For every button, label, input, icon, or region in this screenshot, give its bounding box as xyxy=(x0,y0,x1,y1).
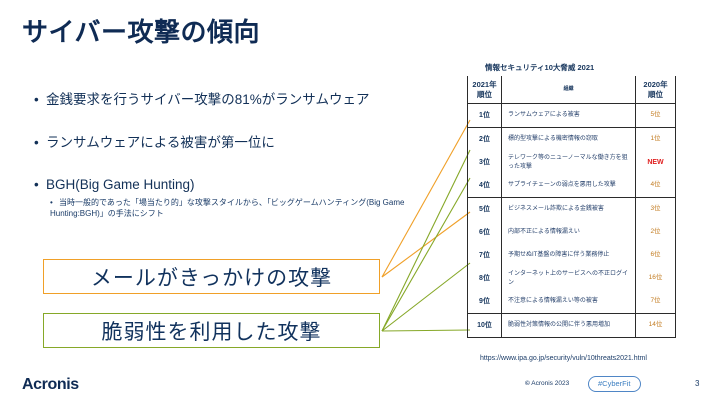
cell-rank-previous: 2位 xyxy=(636,221,676,244)
table-row: 5位ビジネスメール詐欺による金銭被害3位 xyxy=(468,198,676,222)
slide-canvas: サイバー攻撃の傾向 •金銭要求を行うサイバー攻撃の81%がランサムウェア •ラン… xyxy=(0,0,720,405)
bullet-marker: • xyxy=(34,177,46,193)
threat-table-body: 1位ランサムウェアによる被害5位2位標的型攻撃による機密情報の窃取1位3位テレワ… xyxy=(468,104,676,338)
callout-mail-label: メールがきっかけの攻撃 xyxy=(91,262,332,292)
table-row: 10位脆弱性対策情報の公開に伴う悪用増加14位 xyxy=(468,314,676,338)
header-rank-previous-year: 2020年 xyxy=(636,80,675,89)
cell-rank-previous: 1位 xyxy=(636,128,676,152)
cell-rank-current: 7位 xyxy=(468,244,502,267)
bullet-item-1: •金銭要求を行うサイバー攻撃の81%がランサムウェア xyxy=(34,92,369,108)
header-category: 組織 xyxy=(502,76,636,104)
cell-threat-name: インターネット上のサービスへの不正ログイン xyxy=(502,267,636,290)
table-row: 6位内部不正による情報漏えい2位 xyxy=(468,221,676,244)
cell-threat-name: 内部不正による情報漏えい xyxy=(502,221,636,244)
header-rank-previous-label: 順位 xyxy=(636,90,675,99)
table-row: 1位ランサムウェアによる被害5位 xyxy=(468,104,676,128)
cell-rank-previous: 7位 xyxy=(636,290,676,314)
cell-rank-current: 8位 xyxy=(468,267,502,290)
bullet-marker: • xyxy=(34,135,46,151)
bullet-text: 金銭要求を行うサイバー攻撃の81%がランサムウェア xyxy=(46,92,369,107)
cell-threat-name: 標的型攻撃による機密情報の窃取 xyxy=(502,128,636,152)
table-row: 9位不注意による情報漏えい等の被害7位 xyxy=(468,290,676,314)
cell-rank-previous: 5位 xyxy=(636,104,676,128)
table-row: 8位インターネット上のサービスへの不正ログイン16位 xyxy=(468,267,676,290)
cell-rank-previous: 14位 xyxy=(636,314,676,338)
cell-rank-current: 5位 xyxy=(468,198,502,222)
bullet-item-3: •BGH(Big Game Hunting) xyxy=(34,177,195,193)
table-row: 4位サプライチェーンの弱点を悪用した攻撃4位 xyxy=(468,174,676,198)
copyright-text: © Acronis 2023 xyxy=(525,380,569,387)
table-row: 2位標的型攻撃による機密情報の窃取1位 xyxy=(468,128,676,152)
cell-rank-previous-new-badge: NEW xyxy=(636,151,676,174)
cell-rank-current: 6位 xyxy=(468,221,502,244)
cell-rank-current: 1位 xyxy=(468,104,502,128)
bullet-marker: • xyxy=(34,92,46,108)
cell-threat-name: 予期せぬIT基盤の障害に伴う業務停止 xyxy=(502,244,636,267)
page-number: 3 xyxy=(695,379,699,388)
cell-rank-current: 3位 xyxy=(468,151,502,174)
threat-table: 2021年 順位 組織 2020年 順位 1位ランサムウェアによる被害5位2位標… xyxy=(467,76,676,338)
copyright-label: Acronis 2023 xyxy=(531,380,569,387)
slide-footer: Acronis © Acronis 2023 #CyberFit 3 xyxy=(0,371,720,405)
table-header-row: 2021年 順位 組織 2020年 順位 xyxy=(468,76,676,104)
threat-table-container: 情報セキュリティ10大脅威 2021 2021年 順位 組織 2020年 順位 xyxy=(467,62,675,338)
header-rank-current-year: 2021年 xyxy=(468,80,501,89)
cell-threat-name: テレワーク等のニューノーマルな働き方を狙った攻撃 xyxy=(502,151,636,174)
table-row: 7位予期せぬIT基盤の障害に伴う業務停止6位 xyxy=(468,244,676,267)
bullet-text: ランサムウェアによる被害が第一位に xyxy=(46,135,275,150)
header-rank-current: 2021年 順位 xyxy=(468,76,502,104)
cell-threat-name: ビジネスメール詐欺による金銭被害 xyxy=(502,198,636,222)
cell-threat-name: サプライチェーンの弱点を悪用した攻撃 xyxy=(502,174,636,198)
header-rank-current-label: 順位 xyxy=(468,90,501,99)
cell-rank-previous: 6位 xyxy=(636,244,676,267)
cell-threat-name: 脆弱性対策情報の公開に伴う悪用増加 xyxy=(502,314,636,338)
copyright-icon: © xyxy=(525,380,530,387)
bullet-text: BGH(Big Game Hunting) xyxy=(46,177,195,192)
cell-threat-name: 不注意による情報漏えい等の被害 xyxy=(502,290,636,314)
header-rank-previous: 2020年 順位 xyxy=(636,76,676,104)
sub-bullet-marker: • xyxy=(50,198,59,209)
cell-rank-current: 9位 xyxy=(468,290,502,314)
cell-rank-current: 10位 xyxy=(468,314,502,338)
cell-rank-current: 4位 xyxy=(468,174,502,198)
cell-rank-previous: 4位 xyxy=(636,174,676,198)
source-url-link[interactable]: https://www.ipa.go.jp/security/vuln/10th… xyxy=(480,355,647,362)
cell-rank-previous: 3位 xyxy=(636,198,676,222)
page-title: サイバー攻撃の傾向 xyxy=(22,12,260,49)
callout-vulnerability-attack: 脆弱性を利用した攻撃 xyxy=(43,313,380,348)
threat-table-title: 情報セキュリティ10大脅威 2021 xyxy=(485,62,675,73)
cell-threat-name: ランサムウェアによる被害 xyxy=(502,104,636,128)
callout-mail-attack: メールがきっかけの攻撃 xyxy=(43,259,380,294)
callout-vulnerability-label: 脆弱性を利用した攻撃 xyxy=(102,316,322,346)
cell-rank-previous: 16位 xyxy=(636,267,676,290)
bullet-item-2: •ランサムウェアによる被害が第一位に xyxy=(34,135,275,151)
sub-bullet-item-1: •当時一般的であった「場当たり的」な攻撃スタイルから、「ビッグゲームハンティング… xyxy=(50,198,450,220)
sub-bullet-text: 当時一般的であった「場当たり的」な攻撃スタイルから、「ビッグゲームハンティング(… xyxy=(50,198,404,218)
table-row: 3位テレワーク等のニューノーマルな働き方を狙った攻撃NEW xyxy=(468,151,676,174)
acronis-logo: Acronis xyxy=(22,376,79,394)
cell-rank-current: 2位 xyxy=(468,128,502,152)
cyberfit-badge: #CyberFit xyxy=(588,376,641,392)
threat-table-head: 2021年 順位 組織 2020年 順位 xyxy=(468,76,676,104)
